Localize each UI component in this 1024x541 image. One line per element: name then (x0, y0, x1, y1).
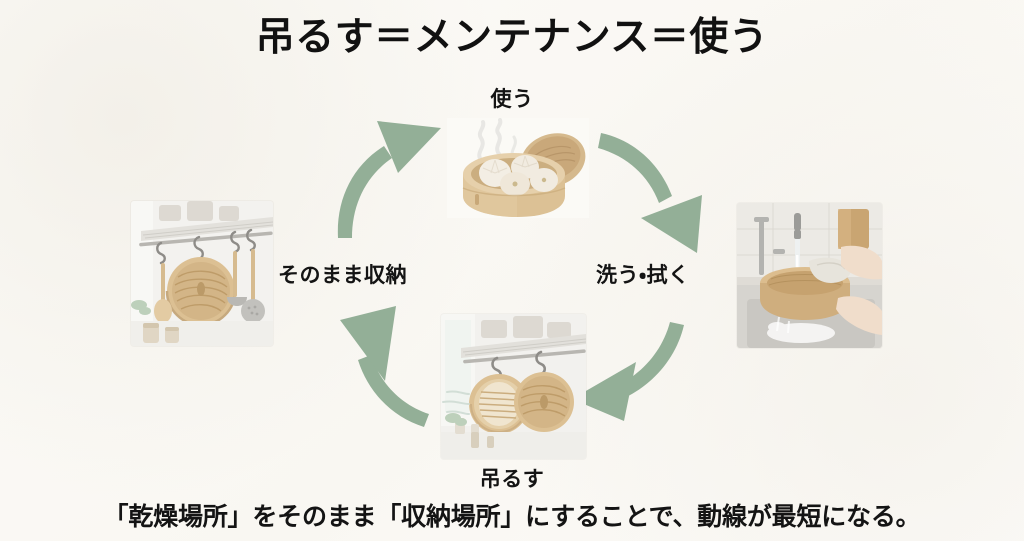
stage-image-hang (441, 314, 586, 459)
bamboo-steamer-hanging-on-hooks-photo (441, 314, 586, 459)
stage-label-wash: 洗う・拭く (596, 259, 690, 289)
stage-image-store (131, 201, 273, 346)
stage-image-use (447, 118, 589, 218)
stage-image-wash (737, 203, 882, 348)
slide-canvas: 吊るす＝メンテナンス＝使う (0, 0, 1024, 541)
stage-label-store: そのまま収納 (278, 259, 407, 289)
arrow-hang-to-store (340, 306, 429, 427)
stage-label-hang: 吊るす (0, 463, 1024, 493)
slide-caption: 「乾燥場所」をそのまま「収納場所」にすることで、動線が最短になる。 (0, 497, 1024, 533)
arrow-wash-to-hang (572, 322, 684, 421)
arrow-store-to-use (338, 121, 441, 238)
slide-title: 吊るす＝メンテナンス＝使う (0, 16, 1024, 61)
steamer-stored-on-kitchen-rail-photo (131, 201, 273, 346)
washing-bamboo-steamer-in-sink-photo (737, 203, 882, 348)
stage-label-use: 使う (0, 83, 1024, 113)
arrow-use-to-wash (598, 133, 702, 253)
bamboo-steamer-with-steamed-buns-photo (447, 118, 589, 218)
